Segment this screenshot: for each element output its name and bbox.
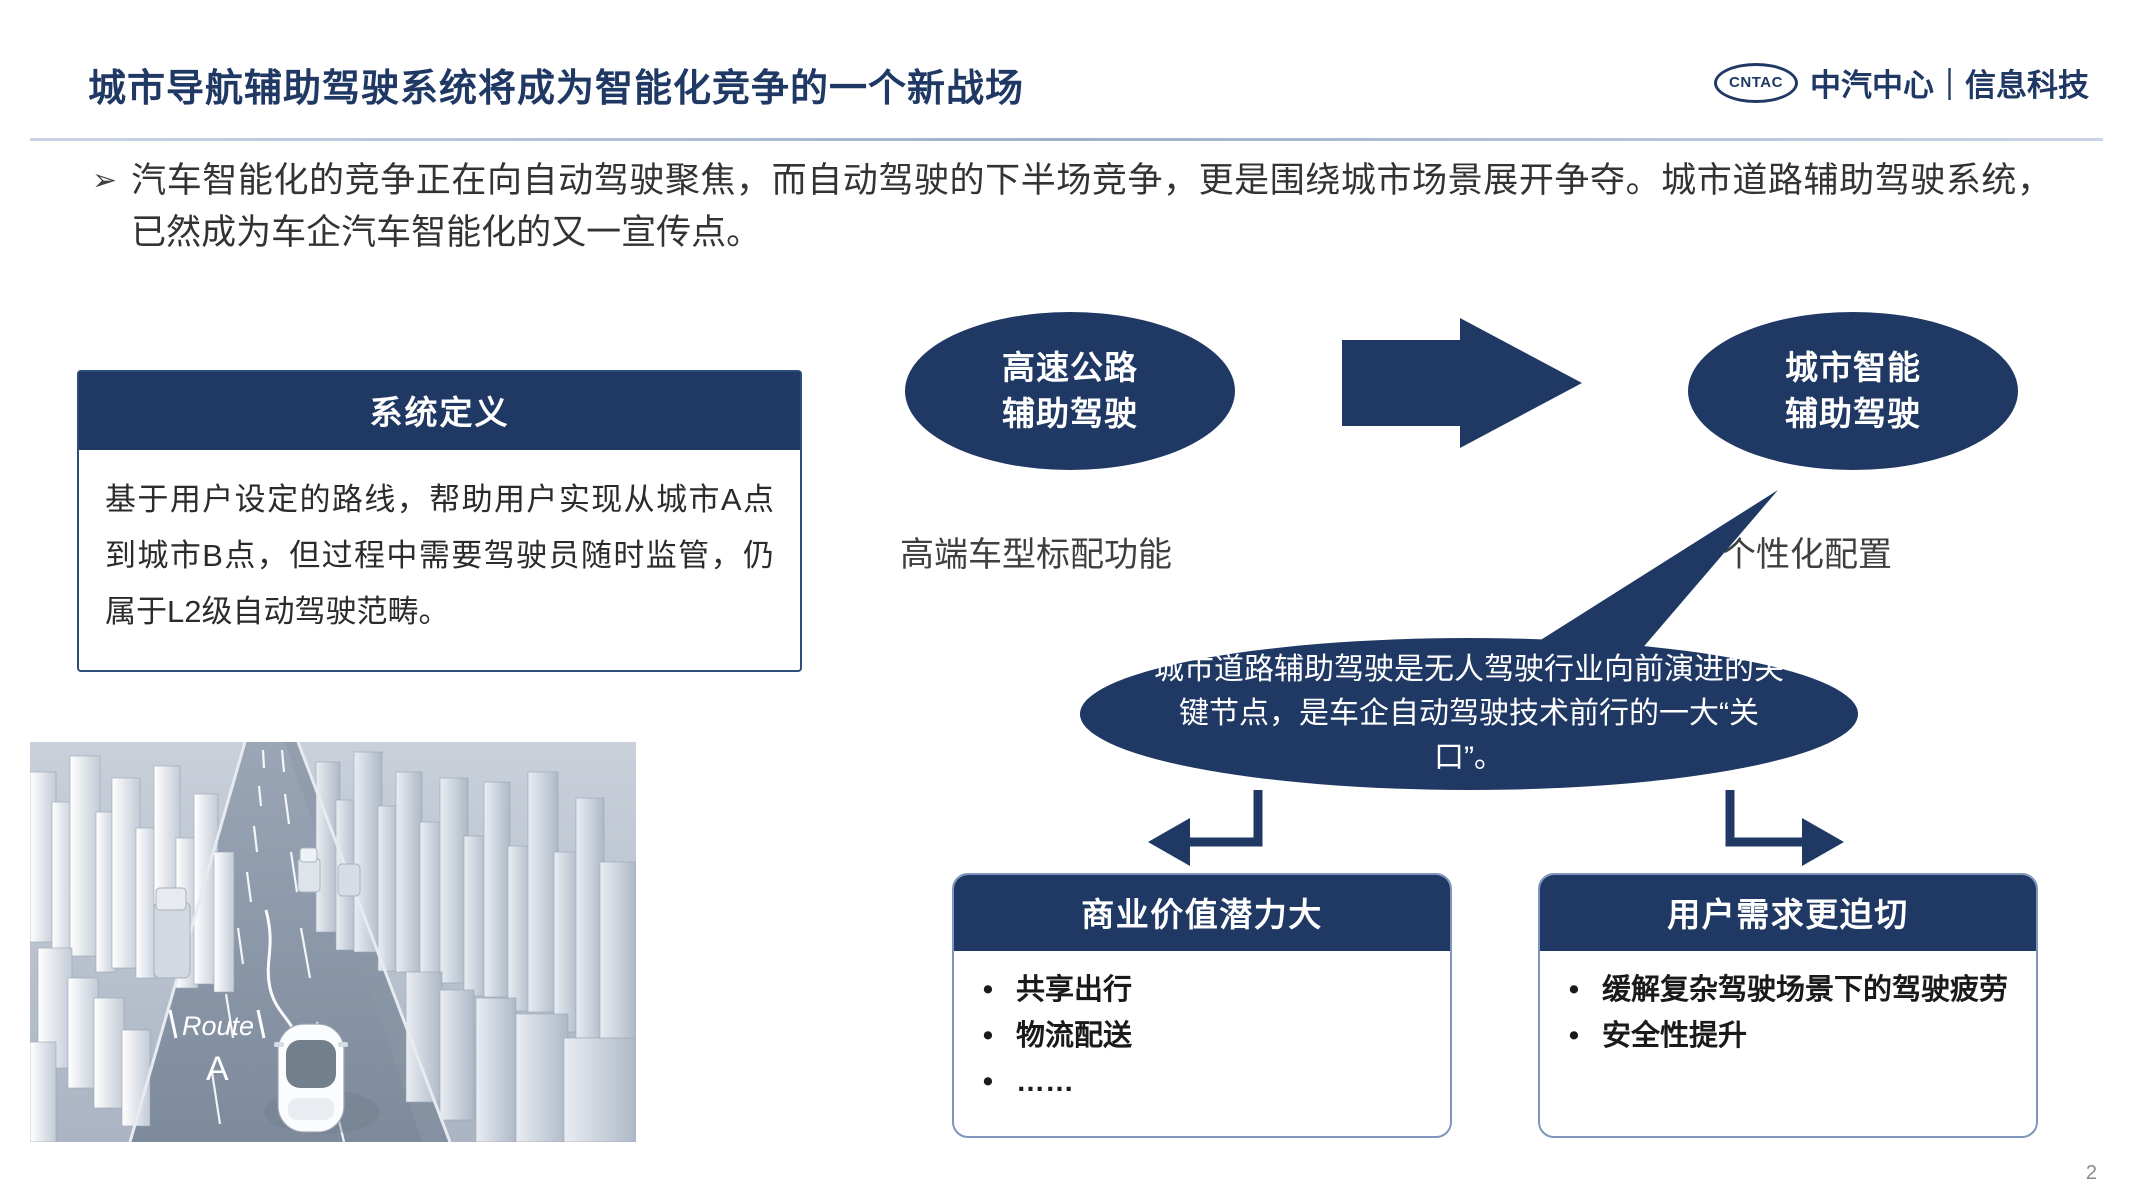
lead-paragraph-text: 汽车智能化的竞争正在向自动驾驶聚焦，而自动驾驶的下半场竞争，更是围绕城市场景展开… bbox=[131, 155, 2052, 259]
ellipse-urban-line2: 辅助驾驶 bbox=[1785, 391, 1921, 437]
bullet-dot-icon: • bbox=[980, 969, 996, 1011]
city-road-illustration: Route A bbox=[30, 742, 636, 1142]
list-item: • 缓解复杂驾驶场景下的驾驶疲劳 bbox=[1566, 969, 2014, 1011]
system-definition-body: 基于用户设定的路线，帮助用户实现从城市A点到城市B点，但过程中需要驾驶员随时监管… bbox=[79, 450, 800, 670]
list-item-label: 共享出行 bbox=[1016, 969, 1428, 1011]
ellipse-highway-line2: 辅助驾驶 bbox=[1002, 391, 1138, 437]
route-letter-text: A bbox=[206, 1050, 229, 1088]
value-card-demand-body: • 缓解复杂驾驶场景下的驾驶疲劳 • 安全性提升 bbox=[1540, 951, 2036, 1057]
ellipse-urban-assist: 城市智能 辅助驾驶 bbox=[1688, 312, 2018, 470]
list-item: • 安全性提升 bbox=[1566, 1015, 2014, 1057]
brand-name: 中汽中心｜信息科技 bbox=[1810, 60, 2089, 105]
bullet-dot-icon: • bbox=[980, 1015, 996, 1057]
system-definition-title: 系统定义 bbox=[79, 372, 800, 450]
list-item: • …… bbox=[980, 1061, 1428, 1103]
list-item-label: 安全性提升 bbox=[1602, 1015, 2014, 1057]
value-card-business: 商业价值潜力大 • 共享出行 • 物流配送 • …… bbox=[952, 873, 1452, 1138]
page-number: 2 bbox=[2086, 1162, 2097, 1185]
page-title: 城市导航辅助驾驶系统将成为智能化竞争的一个新战场 bbox=[88, 57, 1024, 112]
value-card-business-title: 商业价值潜力大 bbox=[954, 875, 1450, 951]
list-item-label: 缓解复杂驾驶场景下的驾驶疲劳 bbox=[1602, 969, 2014, 1011]
list-item: • 物流配送 bbox=[980, 1015, 1428, 1057]
city-road-svg: Route A bbox=[30, 742, 636, 1142]
callout-group: 城市道路辅助驾驶是无人驾驶行业向前演进的关键节点，是车企自动驾驶技术前行的一大“… bbox=[1080, 490, 1890, 790]
ellipse-highway-line1: 高速公路 bbox=[1002, 345, 1138, 391]
route-label-text: Route bbox=[182, 1011, 254, 1041]
value-card-demand: 用户需求更迫切 • 缓解复杂驾驶场景下的驾驶疲劳 • 安全性提升 bbox=[1538, 873, 2038, 1138]
system-definition-card: 系统定义 基于用户设定的路线，帮助用户实现从城市A点到城市B点，但过程中需要驾驶… bbox=[77, 370, 802, 672]
right-arrow-icon bbox=[1342, 318, 1582, 448]
brand-logo: CNTAC 中汽中心｜信息科技 bbox=[1714, 60, 2089, 105]
list-item-label: …… bbox=[1016, 1061, 1428, 1103]
list-item-label: 物流配送 bbox=[1016, 1015, 1428, 1057]
cntac-oval-icon: CNTAC bbox=[1714, 63, 1798, 103]
title-divider bbox=[30, 138, 2103, 141]
value-card-business-body: • 共享出行 • 物流配送 • …… bbox=[954, 951, 1450, 1103]
ellipse-highway-assist: 高速公路 辅助驾驶 bbox=[905, 312, 1235, 470]
lead-paragraph: ➢ 汽车智能化的竞争正在向自动驾驶聚焦，而自动驾驶的下半场竞争，更是围绕城市场景… bbox=[92, 155, 2052, 259]
bullet-dot-icon: • bbox=[1566, 1015, 1582, 1057]
value-card-demand-title: 用户需求更迫切 bbox=[1540, 875, 2036, 951]
ellipse-urban-line1: 城市智能 bbox=[1785, 345, 1921, 391]
callout-bubble: 城市道路辅助驾驶是无人驾驶行业向前演进的关键节点，是车企自动驾驶技术前行的一大“… bbox=[1080, 638, 1858, 790]
bullet-dot-icon: • bbox=[980, 1061, 996, 1103]
bullet-dot-icon: • bbox=[1566, 969, 1582, 1011]
list-item: • 共享出行 bbox=[980, 969, 1428, 1011]
bullet-arrow-icon: ➢ bbox=[92, 155, 117, 207]
